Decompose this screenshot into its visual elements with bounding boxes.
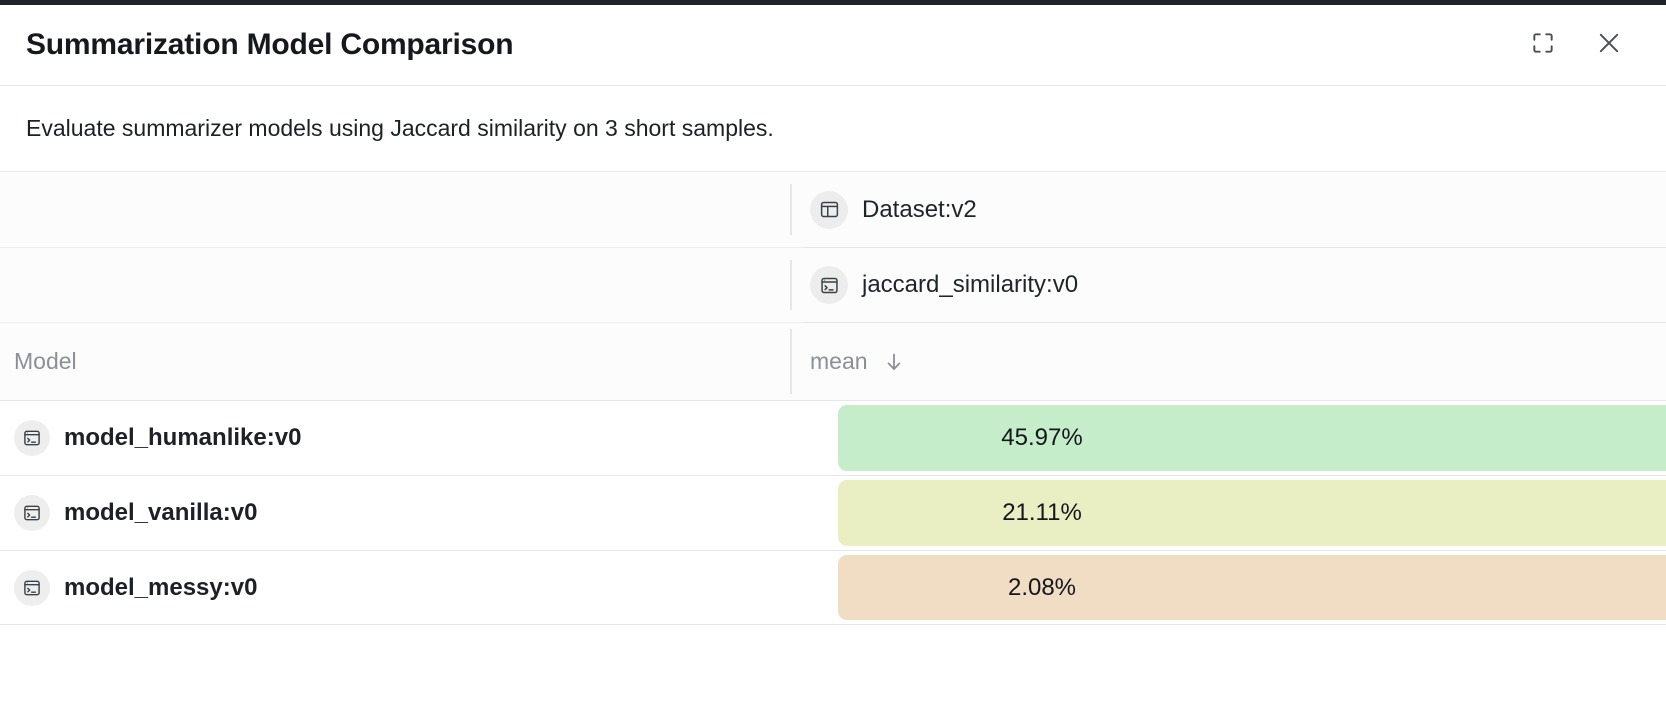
score-value: 21.11% bbox=[1002, 499, 1082, 527]
titlebar-actions bbox=[1526, 28, 1642, 62]
panel-titlebar: Summarization Model Comparison bbox=[0, 5, 1666, 86]
metric-cell: 45.97% bbox=[790, 401, 1666, 475]
model-name: model_vanilla:v0 bbox=[64, 499, 257, 527]
score-bar: 45.97% bbox=[838, 405, 1666, 471]
terminal-window-icon bbox=[14, 495, 50, 531]
model-name: model_messy:v0 bbox=[64, 574, 257, 602]
dataset-header-cell: Dataset:v2 bbox=[790, 172, 1666, 247]
close-icon bbox=[1595, 29, 1623, 62]
metric-header-row: jaccard_similarity:v0 bbox=[0, 247, 1666, 322]
metric-header-cell: jaccard_similarity:v0 bbox=[790, 248, 1666, 322]
mean-column-label: mean bbox=[810, 348, 868, 375]
page-title: Summarization Model Comparison bbox=[26, 28, 513, 62]
table-body: model_humanlike:v0 45.97% bbox=[0, 400, 1666, 625]
metric-column-header: mean bbox=[790, 323, 1666, 400]
table-row[interactable]: model_humanlike:v0 45.97% bbox=[0, 400, 1666, 475]
fullscreen-button[interactable] bbox=[1526, 28, 1560, 62]
dataset-header-row: Dataset:v2 bbox=[0, 172, 1666, 247]
arrow-down-icon bbox=[882, 350, 906, 374]
score-bar: 2.08% bbox=[838, 555, 1666, 620]
table-header-group: Dataset:v2 bbox=[0, 172, 1666, 400]
close-button[interactable] bbox=[1592, 28, 1626, 62]
model-cell: model_messy:v0 bbox=[0, 551, 790, 624]
metric-chip[interactable]: jaccard_similarity:v0 bbox=[810, 266, 1078, 304]
model-column-header[interactable]: Model bbox=[0, 323, 790, 400]
mean-sort-toggle[interactable]: mean bbox=[810, 348, 906, 375]
dataset-chip[interactable]: Dataset:v2 bbox=[810, 191, 977, 229]
table-row[interactable]: model_vanilla:v0 21.11% bbox=[0, 475, 1666, 550]
score-value: 45.97% bbox=[1001, 424, 1082, 452]
terminal-window-icon bbox=[14, 570, 50, 606]
comparison-table: Dataset:v2 bbox=[0, 172, 1666, 712]
metric-cell: 21.11% bbox=[790, 476, 1666, 550]
model-cell: model_vanilla:v0 bbox=[0, 476, 790, 550]
dataset-panel-icon bbox=[810, 191, 848, 229]
terminal-window-icon bbox=[810, 266, 848, 304]
panel-description-row: Evaluate summarizer models using Jaccard… bbox=[0, 86, 1666, 172]
terminal-window-icon bbox=[14, 420, 50, 456]
metric-label: jaccard_similarity:v0 bbox=[862, 271, 1078, 299]
score-bar: 21.11% bbox=[838, 480, 1666, 546]
dataset-label: Dataset:v2 bbox=[862, 196, 977, 224]
model-column-label: Model bbox=[14, 348, 77, 375]
metric-header-spacer bbox=[0, 248, 790, 322]
metric-cell: 2.08% bbox=[790, 551, 1666, 624]
model-cell: model_humanlike:v0 bbox=[0, 401, 790, 475]
table-row[interactable]: model_messy:v0 2.08% bbox=[0, 550, 1666, 625]
model-name: model_humanlike:v0 bbox=[64, 424, 301, 452]
column-labels-row: Model mean bbox=[0, 322, 1666, 400]
score-value: 2.08% bbox=[1008, 574, 1076, 602]
dataset-header-spacer bbox=[0, 172, 790, 247]
fullscreen-icon bbox=[1530, 30, 1556, 61]
comparison-panel: Summarization Model Comparison bbox=[0, 0, 1666, 712]
panel-description: Evaluate summarizer models using Jaccard… bbox=[26, 115, 774, 142]
